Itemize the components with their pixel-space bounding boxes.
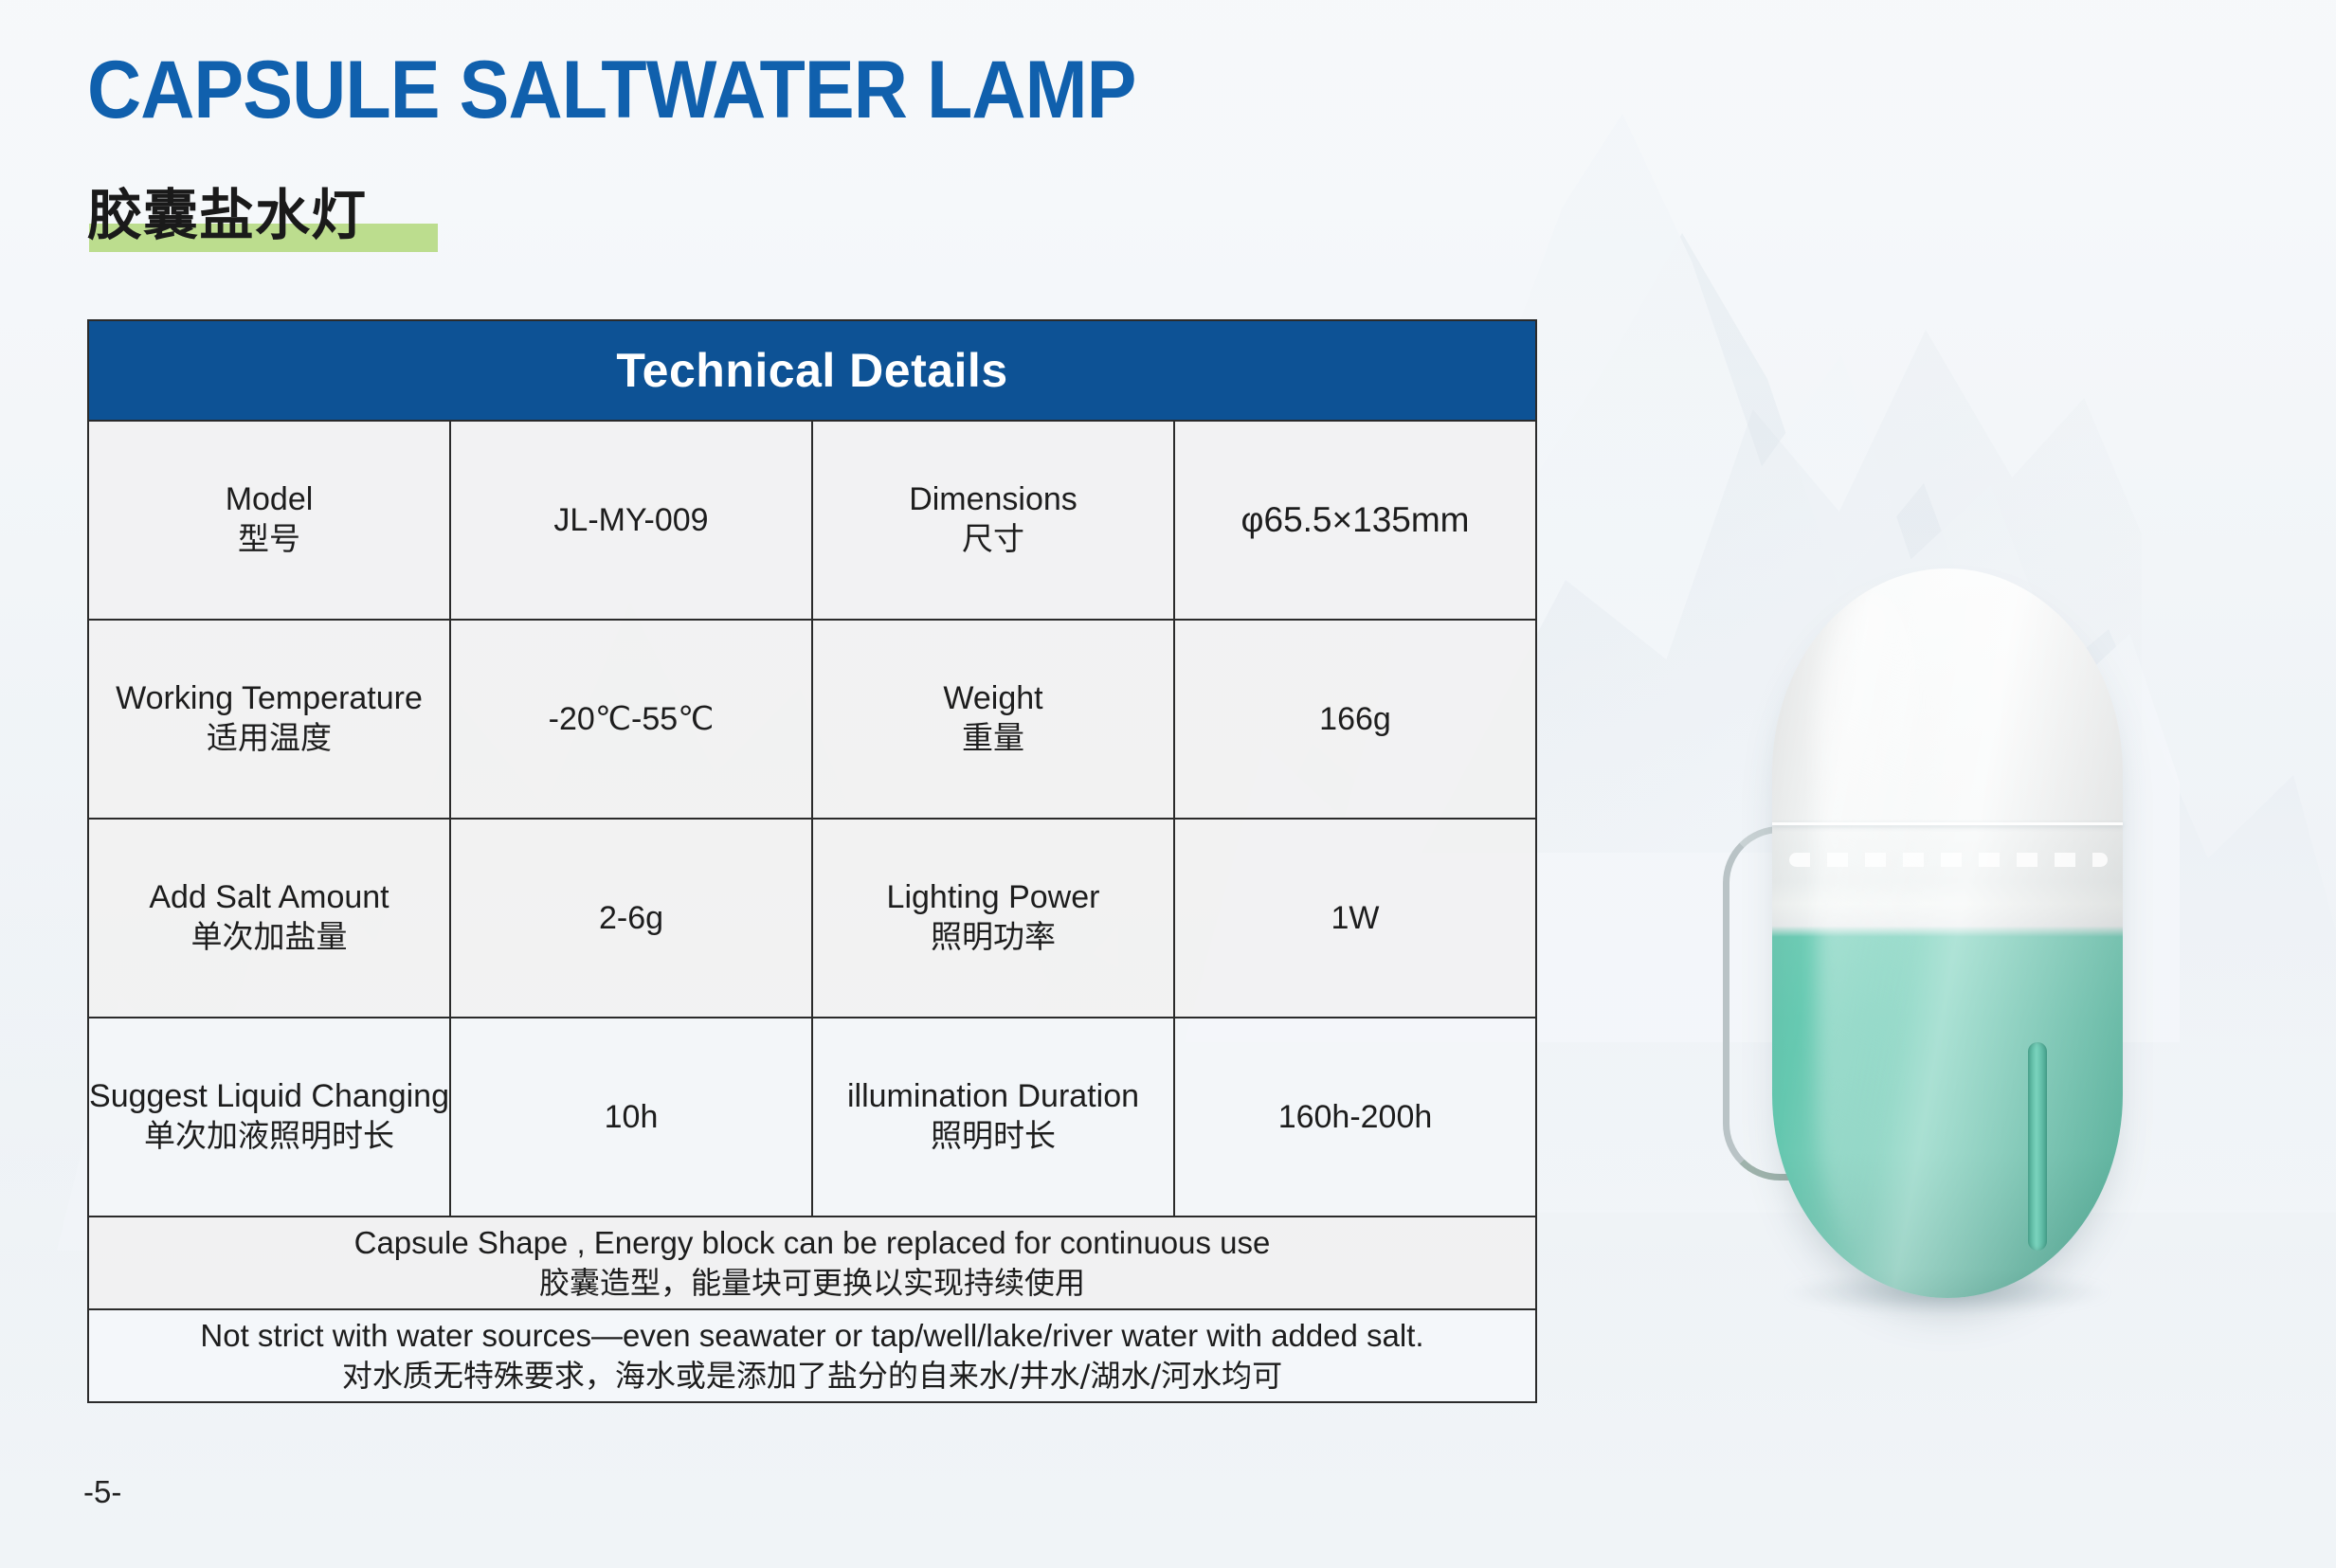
cell-label-add-salt-amount: Add Salt Amount 单次加盐量 — [88, 819, 450, 1018]
label-cn: 适用温度 — [89, 718, 449, 759]
page-root: CAPSULE SALTWATER LAMP 胶囊盐水灯 Technical D… — [0, 0, 2336, 1568]
table-row: Working Temperature 适用温度 -20℃-55℃ Weight… — [88, 620, 1536, 819]
lamp-highlight — [1818, 593, 1931, 1256]
cell-value-lighting-power: 1W — [1174, 819, 1536, 1018]
cell-label-model: Model 型号 — [88, 421, 450, 620]
cell-value-suggest-liquid-changing: 10h — [450, 1018, 812, 1217]
value: 10h — [451, 1098, 811, 1137]
cell-value-dimensions: φ65.5×135mm — [1174, 421, 1536, 620]
label-cn: 型号 — [89, 519, 449, 560]
value: JL-MY-009 — [451, 501, 811, 540]
page-number: -5- — [83, 1474, 121, 1510]
product-image-capsule-lamp — [1715, 568, 2123, 1317]
note-en: Capsule Shape , Energy block can be repl… — [89, 1222, 1535, 1264]
note-en: Not strict with water sources—even seawa… — [89, 1315, 1535, 1357]
table-header-title: Technical Details — [88, 320, 1536, 421]
note-cn: 对水质无特殊要求，海水或是添加了盐分的自来水/井水/湖水/河水均可 — [89, 1356, 1535, 1397]
label-en: Dimensions — [813, 480, 1173, 519]
cell-note-water-sources: Not strict with water sources—even seawa… — [88, 1309, 1536, 1402]
table-row-note: Capsule Shape , Energy block can be repl… — [88, 1217, 1536, 1309]
label-cn: 照明功率 — [813, 917, 1173, 958]
table-row: Model 型号 JL-MY-009 Dimensions 尺寸 φ65.5×1… — [88, 421, 1536, 620]
cell-value-illumination-duration: 160h-200h — [1174, 1018, 1536, 1217]
table-row-note: Not strict with water sources—even seawa… — [88, 1309, 1536, 1402]
label-en: Suggest Liquid Changing — [89, 1077, 449, 1116]
cell-label-dimensions: Dimensions 尺寸 — [812, 421, 1174, 620]
label-en: Lighting Power — [813, 878, 1173, 917]
value: 160h-200h — [1175, 1098, 1535, 1137]
cell-label-weight: Weight 重量 — [812, 620, 1174, 819]
cell-label-suggest-liquid-changing: Suggest Liquid Changing 单次加液照明时长 — [88, 1018, 450, 1217]
cell-value-weight: 166g — [1174, 620, 1536, 819]
label-en: illumination Duration — [813, 1077, 1173, 1116]
lamp-seam-line — [1772, 822, 2123, 825]
cell-note-capsule-shape: Capsule Shape , Energy block can be repl… — [88, 1217, 1536, 1309]
value: 166g — [1175, 700, 1535, 739]
page-title: CAPSULE SALTWATER LAMP — [87, 49, 1135, 131]
note-cn: 胶囊造型，能量块可更换以实现持续使用 — [89, 1263, 1535, 1304]
value: -20℃-55℃ — [451, 700, 811, 739]
technical-details-table: Technical Details Model 型号 JL-MY-009 Dim… — [87, 319, 1537, 1403]
table-header-row: Technical Details — [88, 320, 1536, 421]
lamp-vent-dots — [1789, 853, 2108, 867]
cell-label-lighting-power: Lighting Power 照明功率 — [812, 819, 1174, 1018]
label-cn: 重量 — [813, 718, 1173, 759]
subtitle-block: 胶囊盐水灯 — [87, 188, 367, 254]
label-cn: 单次加液照明时长 — [89, 1116, 449, 1157]
label-cn: 尺寸 — [813, 519, 1173, 560]
cell-label-illumination-duration: illumination Duration 照明时长 — [812, 1018, 1174, 1217]
label-en: Working Temperature — [89, 679, 449, 718]
value: φ65.5×135mm — [1175, 499, 1535, 541]
label-cn: 照明时长 — [813, 1116, 1173, 1157]
table-row: Add Salt Amount 单次加盐量 2-6g Lighting Powe… — [88, 819, 1536, 1018]
label-en: Add Salt Amount — [89, 878, 449, 917]
page-subtitle-cn: 胶囊盐水灯 — [87, 188, 367, 243]
cell-label-working-temperature: Working Temperature 适用温度 — [88, 620, 450, 819]
label-en: Weight — [813, 679, 1173, 718]
cell-value-model: JL-MY-009 — [450, 421, 812, 620]
value: 1W — [1175, 899, 1535, 938]
cell-value-add-salt-amount: 2-6g — [450, 819, 812, 1018]
lamp-side-groove — [2028, 1042, 2047, 1251]
label-cn: 单次加盐量 — [89, 917, 449, 958]
cell-value-working-temperature: -20℃-55℃ — [450, 620, 812, 819]
table-row: Suggest Liquid Changing 单次加液照明时长 10h ill… — [88, 1018, 1536, 1217]
label-en: Model — [89, 480, 449, 519]
value: 2-6g — [451, 899, 811, 938]
